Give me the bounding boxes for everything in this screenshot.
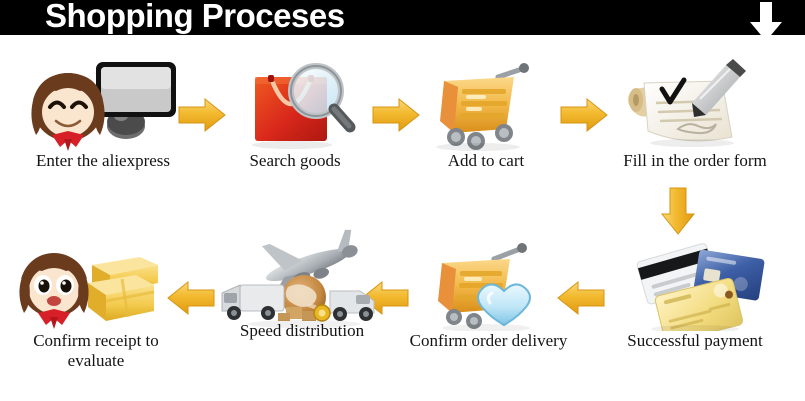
step-successful-payment[interactable]: Successful payment (600, 235, 790, 351)
step-label: Fill in the order form (600, 151, 790, 171)
step-label: Enter the aliexpress (8, 151, 198, 171)
shopping-bag-with-magnifier-icon (210, 55, 380, 151)
step-search-goods[interactable]: Search goods (210, 55, 380, 171)
step-confirm-receipt-to-evaluate[interactable]: Confirm receipt to evaluate (6, 235, 186, 371)
girl-with-monitor-icon (8, 55, 198, 151)
step-enter-the-aliexpress[interactable]: Enter the aliexpress (8, 55, 198, 171)
logistics-plane-truck-icon (212, 225, 392, 321)
step-label: Search goods (210, 151, 380, 171)
shopping-cart-icon (406, 55, 566, 151)
step-fill-in-the-order-form[interactable]: Fill in the order form (600, 55, 790, 171)
step-label: Confirm receipt to evaluate (6, 331, 186, 371)
order-form-with-pen-icon (600, 55, 790, 151)
header-bar: Shopping Proceses (0, 0, 805, 35)
page-title: Shopping Proceses (45, 0, 345, 34)
cart-with-heart-icon (396, 235, 581, 331)
step-label: Successful payment (600, 331, 790, 351)
step-label: Add to cart (406, 151, 566, 171)
step-add-to-cart[interactable]: Add to cart (406, 55, 566, 171)
step-label: Confirm order delivery (396, 331, 581, 351)
credit-cards-icon (600, 235, 790, 331)
arrow-down-icon (748, 2, 784, 42)
arrow-down-icon-4 (660, 186, 696, 241)
step-speed-distribution[interactable]: Speed distribution (212, 225, 392, 341)
step-confirm-order-delivery[interactable]: Confirm order delivery (396, 235, 581, 351)
girl-with-parcel-icon (6, 235, 186, 331)
